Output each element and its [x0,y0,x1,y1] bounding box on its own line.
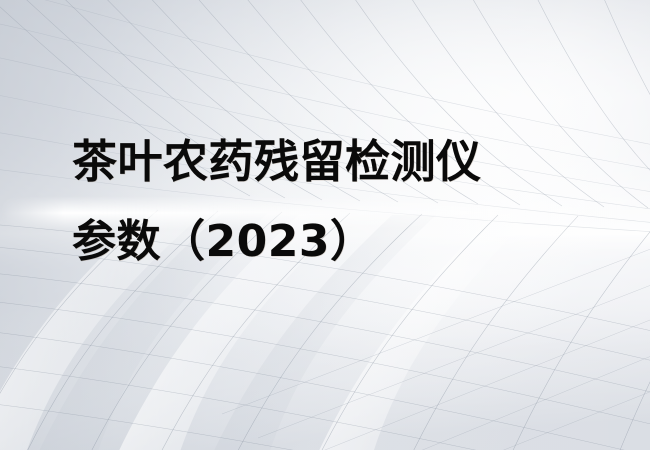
title-line-1: 茶叶农药残留检测仪 [72,122,592,202]
banner-title: 茶叶农药残留检测仪 参数（2023） [72,122,592,282]
title-line-2: 参数（2023） [72,202,592,282]
title-banner: 茶叶农药残留检测仪 参数（2023） [0,0,650,450]
